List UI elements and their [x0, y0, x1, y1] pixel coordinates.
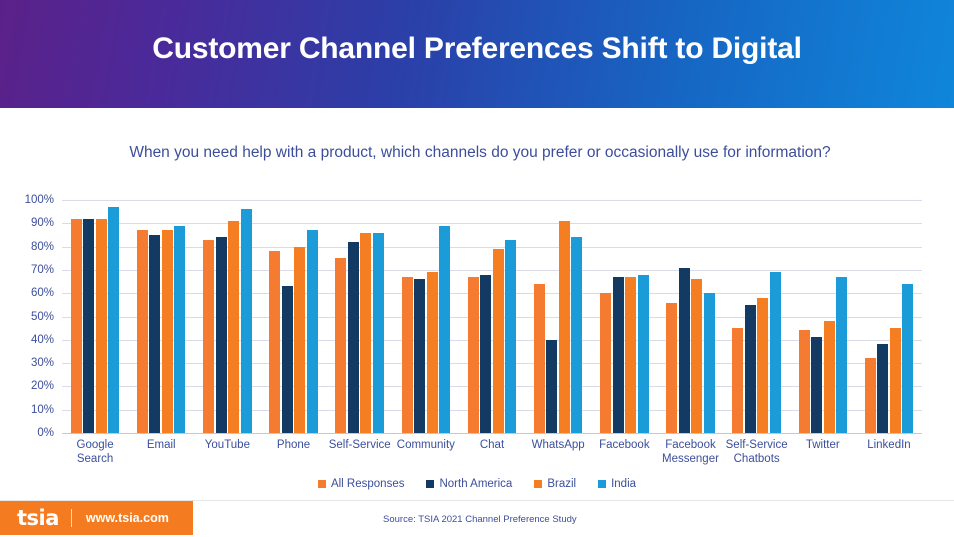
bar[interactable]	[294, 247, 305, 433]
source-note: Source: TSIA 2021 Channel Preference Stu…	[383, 514, 577, 525]
bar[interactable]	[625, 277, 636, 433]
bar[interactable]	[480, 275, 491, 433]
bar[interactable]	[71, 219, 82, 433]
bar[interactable]	[505, 240, 516, 433]
bar[interactable]	[468, 277, 479, 433]
bar[interactable]	[613, 277, 624, 433]
bar[interactable]	[269, 251, 280, 433]
bar[interactable]	[402, 277, 413, 433]
legend-swatch-icon	[534, 480, 542, 488]
bar[interactable]	[335, 258, 346, 433]
brand-divider	[71, 509, 72, 527]
legend-label: North America	[439, 478, 512, 490]
x-axis-label: Community	[393, 438, 459, 466]
legend-item[interactable]: India	[598, 478, 636, 490]
bar-group	[327, 200, 393, 433]
bar[interactable]	[877, 344, 888, 433]
bar-group	[657, 200, 723, 433]
legend-item[interactable]: All Responses	[318, 478, 405, 490]
bar[interactable]	[307, 230, 318, 433]
bar[interactable]	[360, 233, 371, 433]
bar[interactable]	[137, 230, 148, 433]
bar-group	[459, 200, 525, 433]
bar[interactable]	[600, 293, 611, 433]
bar[interactable]	[799, 330, 810, 433]
y-axis-tick: 30%	[31, 357, 54, 369]
bar[interactable]	[745, 305, 756, 433]
bar[interactable]	[571, 237, 582, 433]
bar-group	[393, 200, 459, 433]
legend-label: Brazil	[547, 478, 576, 490]
bar-group	[260, 200, 326, 433]
bar[interactable]	[732, 328, 743, 433]
legend-swatch-icon	[598, 480, 606, 488]
bar[interactable]	[162, 230, 173, 433]
bar[interactable]	[836, 277, 847, 433]
bar[interactable]	[282, 286, 293, 433]
bar[interactable]	[811, 337, 822, 433]
y-axis-tick: 60%	[31, 287, 54, 299]
bar[interactable]	[96, 219, 107, 433]
brand-block: tsia www.tsia.com	[0, 501, 193, 535]
bar-group	[62, 200, 128, 433]
bar-groups	[62, 200, 922, 433]
gridline: 0%	[62, 433, 922, 434]
chart-legend: All ResponsesNorth AmericaBrazilIndia	[0, 478, 954, 490]
x-axis-labels: Google SearchEmailYouTubePhoneSelf-Servi…	[62, 438, 922, 466]
y-axis-tick: 10%	[31, 404, 54, 416]
x-axis-label: Twitter	[790, 438, 856, 466]
legend-item[interactable]: North America	[426, 478, 512, 490]
bar[interactable]	[704, 293, 715, 433]
bar[interactable]	[493, 249, 504, 433]
bar[interactable]	[174, 226, 185, 433]
y-axis-tick: 0%	[37, 427, 54, 439]
chart-panel: When you need help with a product, which…	[0, 108, 954, 500]
bar[interactable]	[216, 237, 227, 433]
bar[interactable]	[241, 209, 252, 433]
bar[interactable]	[691, 279, 702, 433]
bar[interactable]	[546, 340, 557, 433]
y-axis-tick: 50%	[31, 311, 54, 323]
x-axis-label: Chat	[459, 438, 525, 466]
bar-group	[790, 200, 856, 433]
legend-swatch-icon	[318, 480, 326, 488]
y-axis-tick: 20%	[31, 380, 54, 392]
chart-subtitle: When you need help with a product, which…	[90, 142, 870, 163]
x-axis-label: LinkedIn	[856, 438, 922, 466]
bar[interactable]	[559, 221, 570, 433]
bar[interactable]	[890, 328, 901, 433]
bar[interactable]	[902, 284, 913, 433]
chart-plot-area: 100%90%80%70%60%50%40%30%20%10%0%	[62, 200, 922, 433]
y-axis-tick: 70%	[31, 264, 54, 276]
x-axis-label: Facebook Messenger	[657, 438, 723, 466]
slide-header: Customer Channel Preferences Shift to Di…	[0, 0, 954, 108]
bar[interactable]	[83, 219, 94, 433]
y-axis-tick: 80%	[31, 241, 54, 253]
y-axis-tick: 90%	[31, 217, 54, 229]
brand-url[interactable]: www.tsia.com	[86, 511, 169, 525]
bar[interactable]	[373, 233, 384, 433]
bar[interactable]	[348, 242, 359, 433]
y-axis-tick: 100%	[25, 194, 54, 206]
legend-item[interactable]: Brazil	[534, 478, 576, 490]
legend-label: India	[611, 478, 636, 490]
bar[interactable]	[427, 272, 438, 433]
x-axis-label: Self-Service	[327, 438, 393, 466]
x-axis-label: WhatsApp	[525, 438, 591, 466]
page-title: Customer Channel Preferences Shift to Di…	[0, 32, 954, 66]
legend-label: All Responses	[331, 478, 405, 490]
bar[interactable]	[865, 358, 876, 433]
bar[interactable]	[414, 279, 425, 433]
x-axis-label: Phone	[260, 438, 326, 466]
bar-group	[128, 200, 194, 433]
x-axis-label: Email	[128, 438, 194, 466]
bar[interactable]	[534, 284, 545, 433]
bar[interactable]	[149, 235, 160, 433]
bar-group	[856, 200, 922, 433]
tsia-logo: tsia	[17, 506, 59, 530]
bar-group	[194, 200, 260, 433]
legend-swatch-icon	[426, 480, 434, 488]
bar[interactable]	[757, 298, 768, 433]
bar-group	[724, 200, 790, 433]
bar-group	[525, 200, 591, 433]
slide-footer: tsia www.tsia.com Source: TSIA 2021 Chan…	[0, 500, 954, 537]
bar[interactable]	[679, 268, 690, 433]
x-axis-label: Facebook	[591, 438, 657, 466]
x-axis-label: Self-Service Chatbots	[724, 438, 790, 466]
x-axis-label: Google Search	[62, 438, 128, 466]
bar[interactable]	[666, 303, 677, 433]
bar[interactable]	[228, 221, 239, 433]
bar[interactable]	[824, 321, 835, 433]
y-axis-tick: 40%	[31, 334, 54, 346]
bar[interactable]	[203, 240, 214, 433]
bar[interactable]	[770, 272, 781, 433]
bar-group	[591, 200, 657, 433]
x-axis-label: YouTube	[194, 438, 260, 466]
bar[interactable]	[638, 275, 649, 433]
bar[interactable]	[439, 226, 450, 433]
bar[interactable]	[108, 207, 119, 433]
